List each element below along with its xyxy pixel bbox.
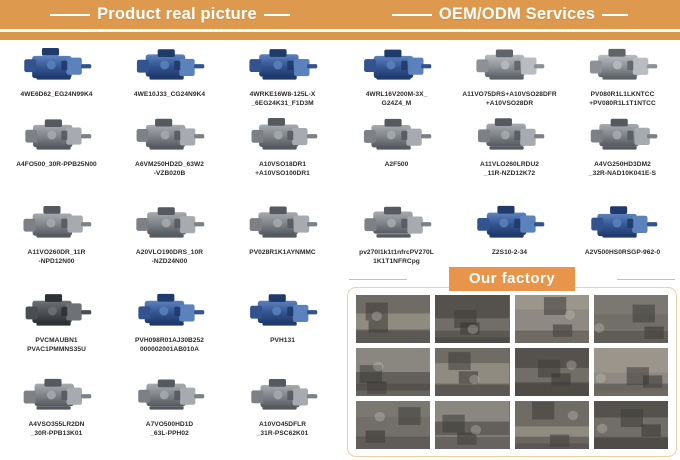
factory-photo[interactable] (594, 401, 668, 449)
valve-blue-prop-icon (226, 42, 339, 88)
product-card[interactable]: 4WE6D62_EG24N99K4 (0, 42, 113, 100)
product-card[interactable]: A2F500 (340, 112, 453, 170)
product-caption: PV080R1L1LKNTCC +PV080R1L1T1NTCC (567, 91, 679, 108)
product-caption: A11VO75DRS+A10VSO28DFR +A10VSO28DR (454, 91, 566, 108)
pump-grey-a11vo-icon (0, 200, 113, 246)
product-caption: A4VG250HD3DM2 _32R-NAD10K041E-S (567, 161, 679, 178)
product-caption: Z2S10-2-34 (454, 249, 566, 258)
product-caption: A20VLO190DRS_10R -NZD24N00 (114, 249, 226, 266)
product-caption: PVH131 (227, 337, 339, 346)
banner-lower-strip (0, 32, 680, 40)
product-caption: A10VSO18DR1 +A10VSO100DR1 (227, 161, 339, 178)
factory-photo[interactable] (356, 348, 430, 396)
pump-silver-tandem-icon (453, 42, 566, 88)
factory-photo[interactable] (356, 295, 430, 343)
banner-title-right: OEM/ODM Services (439, 5, 595, 24)
pump-grey-pv270-icon (340, 200, 453, 246)
pump-grey-large-icon (453, 112, 566, 158)
pump-grey-a4vso-icon (0, 372, 113, 418)
factory-photo-grid (356, 295, 668, 449)
product-card[interactable]: A11VLO260LRDU2 _11R-NZD12K72 (453, 112, 566, 178)
factory-photo[interactable] (435, 401, 509, 449)
banner-oem-odm-services: OEM/ODM Services (340, 0, 680, 29)
product-card[interactable]: PV028R1K1AYNMMC (226, 200, 339, 258)
pump-grey-a20vlo-icon (113, 200, 226, 246)
banner-title-left: Product real picture (97, 5, 257, 24)
banner-dash-left-icon-2 (392, 14, 432, 16)
pump-dark-pvc-icon (0, 288, 113, 334)
product-caption: A6VM250HD2D_63W2 -VZB020B (114, 161, 226, 178)
product-card[interactable]: PVCMAUBN1 PVAC1PMMNS35U (0, 288, 113, 354)
pump-blue-a2v-icon (566, 200, 679, 246)
banner-dash-left-icon (50, 14, 90, 16)
factory-rule-right-icon (617, 279, 675, 280)
product-caption: 4WRKE16W8-125L-X _6EG24K31_F1D3M (227, 91, 339, 108)
factory-title: Our factory (449, 267, 575, 291)
pump-silver-twin-icon (566, 42, 679, 88)
product-caption: PV028R1K1AYNMMC (227, 249, 339, 258)
valve-navy-stack-icon (453, 200, 566, 246)
pump-grey-a7vo-icon (113, 372, 226, 418)
product-caption: A10VO45DFLR _31R-PSC62K01 (227, 421, 339, 438)
product-caption: PVCMAUBN1 PVAC1PMMNS35U (1, 337, 113, 354)
product-caption: pv270l1k1t1nfrcPV270L 1K1T1NFRCpg (341, 249, 453, 266)
product-card[interactable]: PVH131 (226, 288, 339, 346)
section-banner: Product real picture OEM/ODM Services (0, 0, 680, 40)
product-card[interactable]: A10VO45DFLR _31R-PSC62K01 (226, 372, 339, 438)
product-caption: A11VLO260LRDU2 _11R-NZD12K72 (454, 161, 566, 178)
product-caption: A7VO500HD1D _63L-PPH02 (114, 421, 226, 438)
factory-photo[interactable] (594, 348, 668, 396)
product-caption: 4WE10J33_CG24N9K4 (114, 91, 226, 100)
factory-rule-left-icon (349, 279, 407, 280)
pump-grey-a10vo-icon (226, 372, 339, 418)
factory-photo[interactable] (435, 295, 509, 343)
product-card[interactable]: A4VSO355LR2DN _30R-PPB13K01 (0, 372, 113, 438)
product-card[interactable]: A11VO75DRS+A10VSO28DFR +A10VSO28DR (453, 42, 566, 108)
valve-blue-solenoid-icon (0, 42, 113, 88)
pump-grey-vg-icon (566, 112, 679, 158)
product-card[interactable]: Z2S10-2-34 (453, 200, 566, 258)
product-caption: A4VSO355LR2DN _30R-PPB13K01 (1, 421, 113, 438)
valve-blue-stacked-icon (340, 42, 453, 88)
product-caption: 4WE6D62_EG24N99K4 (1, 91, 113, 100)
pump-blue-pvh-icon (113, 288, 226, 334)
product-card[interactable]: A4FO500_30R-PPB25N00 (0, 112, 113, 170)
product-card[interactable]: PV080R1L1LKNTCC +PV080R1L1T1NTCC (566, 42, 679, 108)
product-caption: A2F500 (341, 161, 453, 170)
factory-photo[interactable] (594, 295, 668, 343)
product-card[interactable]: 4WRKE16W8-125L-X _6EG24K31_F1D3M (226, 42, 339, 108)
product-card[interactable]: A2V500HS0RSGP-962-0 (566, 200, 679, 258)
product-card[interactable]: pv270l1k1t1nfrcPV270L 1K1T1NFRCpg (340, 200, 453, 266)
factory-photo[interactable] (515, 401, 589, 449)
product-card[interactable]: A11VO260DR_11R -NPD12N00 (0, 200, 113, 266)
banner-product-real-picture: Product real picture (0, 0, 340, 29)
factory-photo[interactable] (515, 295, 589, 343)
product-card[interactable]: 4WE10J33_CG24N9K4 (113, 42, 226, 100)
pump-blue-pvh131-icon (226, 288, 339, 334)
section-our-factory: Our factory (347, 266, 677, 458)
pump-grey-axial-icon (0, 112, 113, 158)
product-card[interactable]: A10VSO18DR1 +A10VSO100DR1 (226, 112, 339, 178)
motor-grey-bent-icon (113, 112, 226, 158)
product-card[interactable]: A6VM250HD2D_63W2 -VZB020B (113, 112, 226, 178)
product-caption: 4WRL16V200M-3X_ G24Z4_M (341, 91, 453, 108)
pump-grey-duo-icon (226, 112, 339, 158)
factory-photo-box (347, 287, 677, 457)
product-caption: PVH098R01AJ30B252 000002001AB010A (114, 337, 226, 354)
factory-photo[interactable] (435, 348, 509, 396)
product-card[interactable]: A7VO500HD1D _63L-PPH02 (113, 372, 226, 438)
product-card[interactable]: 4WRL16V200M-3X_ G24Z4_M (340, 42, 453, 108)
pump-grey-pv028-icon (226, 200, 339, 246)
valve-blue-double-icon (113, 42, 226, 88)
product-card[interactable]: A20VLO190DRS_10R -NZD24N00 (113, 200, 226, 266)
factory-photo[interactable] (515, 348, 589, 396)
banner-dash-right-icon-2 (602, 14, 628, 16)
product-caption: A2V500HS0RSGP-962-0 (567, 249, 679, 258)
factory-photo[interactable] (356, 401, 430, 449)
banner-dash-right-icon (264, 14, 290, 16)
product-card[interactable]: PVH098R01AJ30B252 000002001AB010A (113, 288, 226, 354)
product-card[interactable]: A4VG250HD3DM2 _32R-NAD10K041E-S (566, 112, 679, 178)
product-caption: A11VO260DR_11R -NPD12N00 (1, 249, 113, 266)
motor-grey-round-icon (340, 112, 453, 158)
product-caption: A4FO500_30R-PPB25N00 (1, 161, 113, 170)
